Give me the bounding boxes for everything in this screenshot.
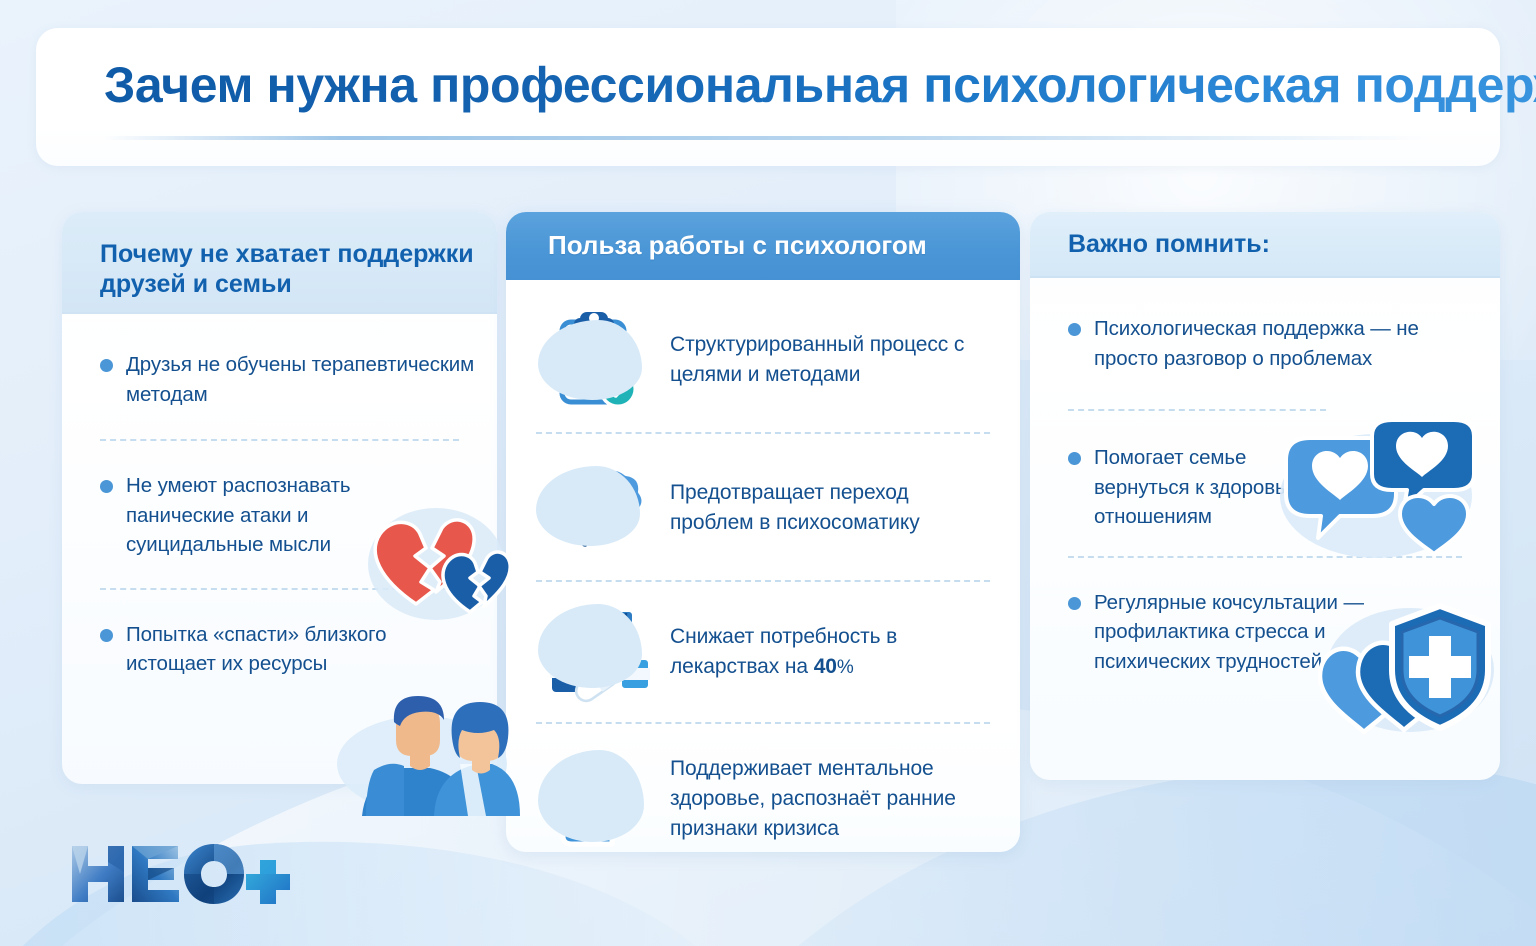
list-divider xyxy=(100,588,459,590)
card-left-body: Друзья не обучены терапевтическим метода… xyxy=(62,314,497,784)
list-divider xyxy=(1068,409,1326,411)
card-right-body: Психологическая поддержка — не просто ра… xyxy=(1030,278,1500,780)
right-bullet-list: Психологическая поддержка — не просто ра… xyxy=(1030,278,1500,676)
list-item[interactable]: Регулярные кочсультации — профилактика с… xyxy=(1030,588,1500,677)
benefit-text-lead: Снижает потребность в лекарствах на xyxy=(670,625,897,678)
list-item[interactable]: Снижает потребность в лекарствах на 40% xyxy=(506,598,1020,706)
list-item[interactable]: Друзья не обучены терапевтическим метода… xyxy=(62,350,497,409)
bullet-dot-icon xyxy=(1068,323,1081,336)
card-middle-header: Польза работы с психологом xyxy=(506,212,1020,280)
clipboard-checklist-icon xyxy=(536,306,654,414)
list-divider xyxy=(536,722,990,724)
list-item[interactable]: Попытка «спасти» близкого истощает их ре… xyxy=(62,620,497,679)
list-item[interactable]: Поддерживает ментальное здоровье, распоз… xyxy=(506,740,1020,852)
brand-logo xyxy=(66,838,296,910)
list-item-label: Друзья не обучены терапевтическим метода… xyxy=(126,350,476,409)
list-divider xyxy=(536,580,990,582)
list-divider xyxy=(536,432,990,434)
list-item-label: Регулярные кочсультации — профилактика с… xyxy=(1094,588,1394,677)
title-card: Зачем нужна профессиональная психологиче… xyxy=(36,28,1500,166)
card-left-header-title: Почему не хватает поддержки друзей и сем… xyxy=(100,239,497,300)
list-divider xyxy=(1068,556,1462,558)
list-item[interactable]: Не умеют распознавать панические атаки и… xyxy=(62,471,497,560)
card-middle-benefits: Польза работы с психологом xyxy=(506,212,1020,852)
list-item-label: Снижает потребность в лекарствах на 40% xyxy=(670,622,994,682)
card-left-why-friends-not-enough: Почему не хватает поддержки друзей и сем… xyxy=(62,212,497,784)
card-right-header: Важно помнить: xyxy=(1030,212,1500,278)
card-middle-header-title: Польза работы с психологом xyxy=(548,230,927,262)
list-item[interactable]: Психологическая поддержка — не просто ра… xyxy=(1030,314,1500,373)
list-item[interactable]: Помогает семье вернуться к здоровым отно… xyxy=(1030,443,1500,532)
list-divider xyxy=(100,439,459,441)
page-title: Зачем нужна профессиональная психологиче… xyxy=(104,56,1536,114)
bullet-dot-icon xyxy=(1068,597,1081,610)
card-middle-body: Структурированный процесс с целями и мет… xyxy=(506,306,1020,852)
head-alert-icon xyxy=(536,740,654,852)
left-bullet-list: Друзья не обучены терапевтическим метода… xyxy=(62,314,497,679)
pill-bottles-icon xyxy=(536,598,654,706)
list-item-label: Психологическая поддержка — не просто ра… xyxy=(1094,314,1462,373)
benefit-unit: % xyxy=(837,657,854,678)
bullet-dot-icon xyxy=(100,480,113,493)
title-underline xyxy=(102,136,1432,140)
list-item-label: Поддерживает ментальное здоровье, распоз… xyxy=(670,754,994,843)
benefit-value: 40 xyxy=(814,655,837,678)
card-right-header-title: Важно помнить: xyxy=(1068,229,1270,260)
list-item-label: Попытка «спасти» близкого истощает их ре… xyxy=(126,620,476,679)
list-item-label: Структурированный процесс с целями и мет… xyxy=(670,330,994,390)
list-item-label: Предотвращает переход проблем в психосом… xyxy=(670,478,994,538)
list-item[interactable]: Структурированный процесс с целями и мет… xyxy=(506,306,1020,414)
bullet-dot-icon xyxy=(100,629,113,642)
brain-icon xyxy=(536,454,654,562)
card-right-important: Важно помнить: Психологическая поддержка… xyxy=(1030,212,1500,780)
bullet-dot-icon xyxy=(100,359,113,372)
card-left-header: Почему не хватает поддержки друзей и сем… xyxy=(62,212,497,314)
bullet-dot-icon xyxy=(1068,452,1081,465)
list-item-label: Помогает семье вернуться к здоровым отно… xyxy=(1094,443,1324,532)
list-item-label: Не умеют распознавать панические атаки и… xyxy=(126,471,394,560)
list-item[interactable]: Предотвращает переход проблем в психосом… xyxy=(506,454,1020,562)
